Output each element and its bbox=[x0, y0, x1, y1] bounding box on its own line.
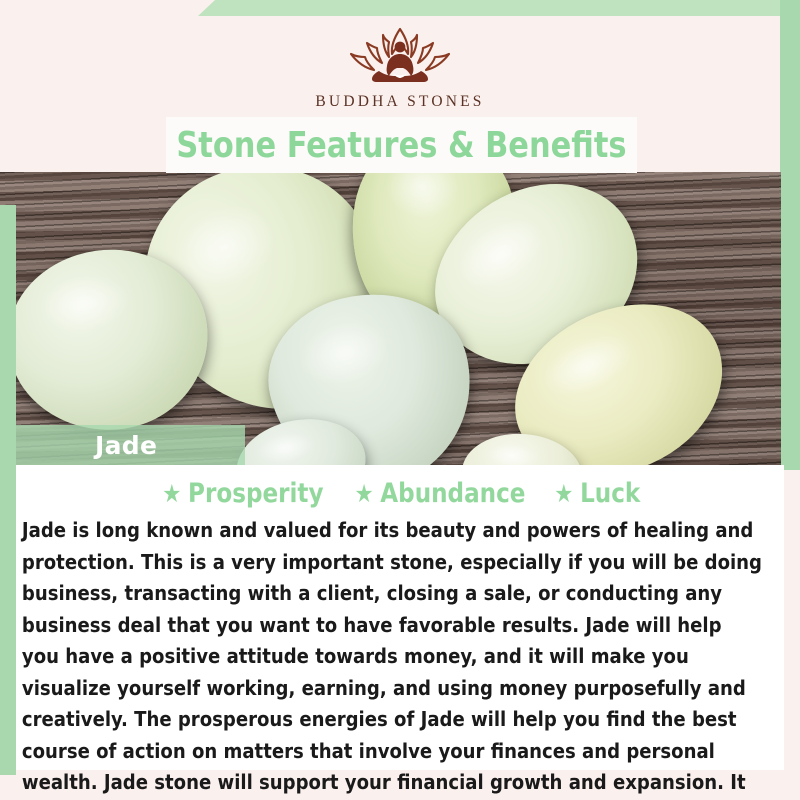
star-icon: ★ bbox=[162, 481, 181, 506]
benefit-label: Luck bbox=[580, 478, 640, 509]
stone-description: Jade is long known and valued for its be… bbox=[16, 515, 767, 800]
decor-left-green-strip bbox=[0, 205, 16, 775]
infographic-page: BUDDHA STONES Stone Features & Benefits … bbox=[0, 0, 800, 800]
benefit-label: Prosperity bbox=[188, 478, 323, 509]
stone-photo bbox=[0, 172, 781, 465]
benefit-item-abundance: ★ Abundance bbox=[354, 478, 525, 509]
benefit-item-luck: ★ Luck bbox=[554, 478, 640, 509]
page-title: Stone Features & Benefits bbox=[176, 125, 626, 166]
brand-wordmark: BUDDHA STONES bbox=[315, 93, 484, 111]
benefits-row: ★ Prosperity ★ Abundance ★ Luck bbox=[16, 473, 784, 513]
star-icon: ★ bbox=[554, 481, 573, 506]
content-panel: ★ Prosperity ★ Abundance ★ Luck Jade is … bbox=[16, 465, 784, 770]
stone-name-label: Jade bbox=[95, 431, 157, 460]
photo-caption-bar: Jade bbox=[16, 425, 245, 465]
benefit-item-prosperity: ★ Prosperity bbox=[162, 478, 323, 509]
benefit-label: Abundance bbox=[380, 478, 525, 509]
lotus-meditation-figure-icon bbox=[325, 22, 475, 88]
star-icon: ★ bbox=[354, 481, 373, 506]
section-title-banner: Stone Features & Benefits bbox=[166, 117, 637, 173]
